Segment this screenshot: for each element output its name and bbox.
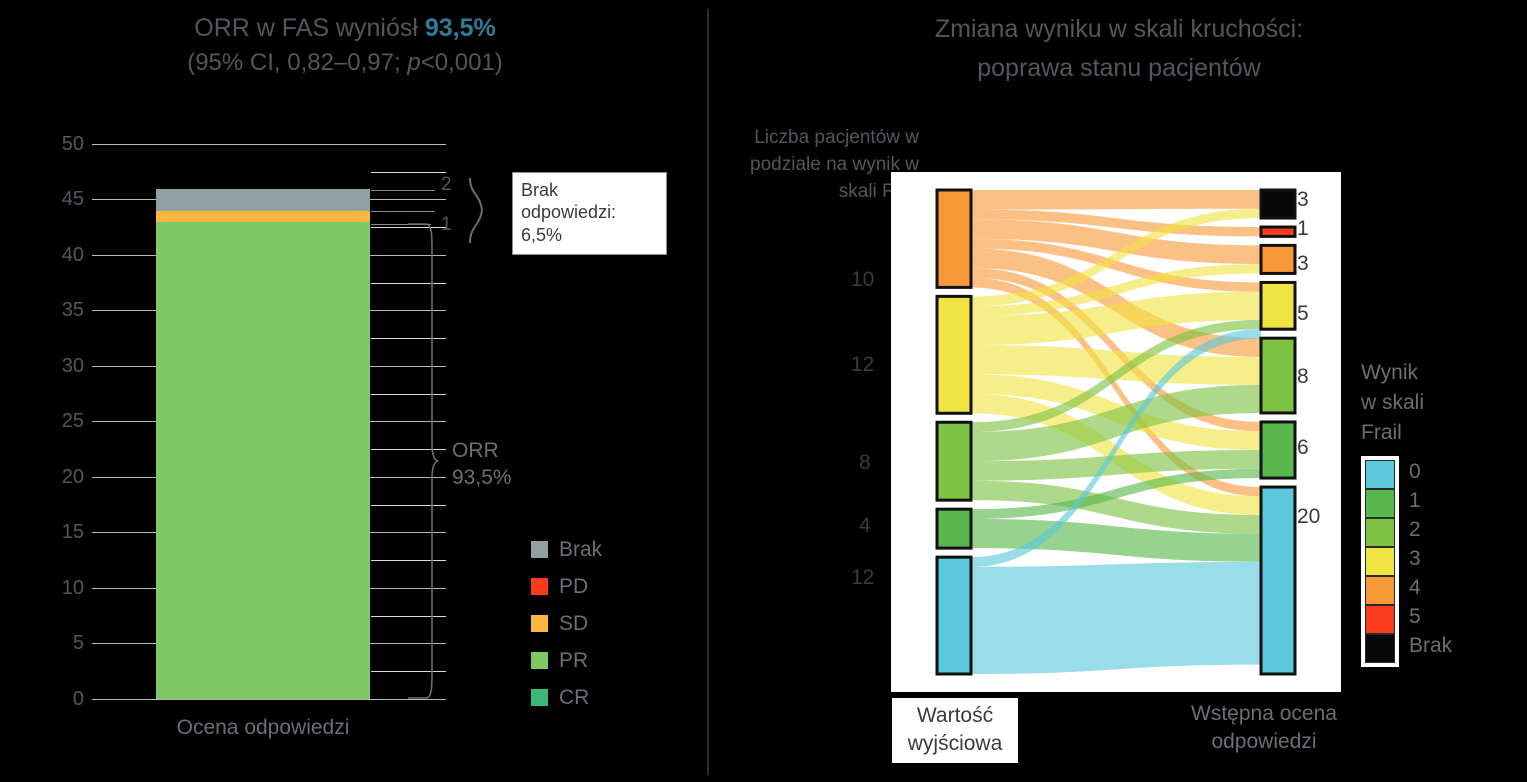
- sankey-node-baseline-3[interactable]: [937, 296, 971, 413]
- sankey-legend-label-3: 3: [1409, 543, 1452, 572]
- sankey-title-line1: Zmiana wyniku w skali kruchości:: [769, 10, 1469, 49]
- bar-chart-plot: 50 45 40 35 30 25 20 15 10 5 0 Ocena odp…: [0, 0, 707, 782]
- ytick-label: 20: [36, 466, 84, 489]
- sankey-node-baseline-1[interactable]: [937, 509, 971, 548]
- legend-item-pr[interactable]: PR: [531, 642, 602, 679]
- sankey-left-node-label-2: 8: [859, 451, 871, 475]
- legend-label-pr: PR: [559, 649, 588, 673]
- sankey-legend-keys: 0 1 2 3 4 5 Brak: [1409, 456, 1452, 659]
- sankey-right-node-label-4: 3: [1297, 252, 1309, 276]
- legend-swatch-pr: [531, 652, 548, 669]
- x-axis-label: Ocena odpowiedzi: [156, 716, 370, 740]
- sankey-node-response-4[interactable]: [1261, 245, 1295, 273]
- ytick-label: 25: [36, 410, 84, 433]
- ytick-label: 10: [36, 577, 84, 600]
- sankey-node-baseline-0[interactable]: [937, 557, 971, 674]
- annotation-box-text: Brak odpowiedzi: 6,5%: [521, 180, 616, 245]
- sankey-right-node-label-5: 1: [1297, 217, 1309, 241]
- sankey-left-node-label-3: 12: [851, 353, 874, 377]
- sankey-legend-label-0: 0: [1409, 456, 1452, 485]
- ytick-label: 15: [36, 521, 84, 544]
- legend-item-brak[interactable]: Brak: [531, 531, 602, 568]
- ytick-label: 30: [36, 355, 84, 378]
- sankey-legend-title-line3: Frail: [1361, 418, 1424, 448]
- sankey-legend-swatch-0[interactable]: [1365, 460, 1395, 489]
- annotation-orr-line1: ORR: [452, 437, 512, 464]
- bar-segment-brak[interactable]: [156, 189, 370, 211]
- ytick-label: 45: [36, 188, 84, 211]
- ytick-label: 35: [36, 299, 84, 322]
- annotation-orr-line2: 93,5%: [452, 464, 512, 491]
- sankey-legend: Wynik w skali Frail 0 1 2 3 4 5 Brak: [1361, 358, 1424, 451]
- brace-icon-top: [466, 176, 500, 246]
- sankey-node-response-Brak[interactable]: [1261, 190, 1295, 218]
- sankey-legend-swatch-5[interactable]: [1365, 605, 1395, 634]
- annotation-count-sd: 1: [441, 214, 452, 236]
- annotation-orr: ORR 93,5%: [452, 437, 512, 492]
- sankey-node-response-1[interactable]: [1261, 422, 1295, 478]
- left-panel: ORR w FAS wyniósł 93,5% (95% CI, 0,82–0,…: [0, 0, 707, 782]
- bar-segment-sd[interactable]: [156, 211, 370, 222]
- sankey-legend-label-1: 1: [1409, 485, 1452, 514]
- sankey-node-response-5[interactable]: [1261, 227, 1295, 236]
- sankey-legend-swatch-3[interactable]: [1365, 547, 1395, 576]
- gridline-0: [92, 699, 446, 700]
- legend-item-pd[interactable]: PD: [531, 568, 602, 605]
- sankey-legend-label-brak: Brak: [1409, 630, 1452, 659]
- sankey-link-4-to-Brak[interactable]: [971, 190, 1261, 209]
- sankey-node-response-2[interactable]: [1261, 338, 1295, 413]
- legend-label-pd: PD: [559, 575, 588, 599]
- legend-label-sd: SD: [559, 612, 588, 636]
- ytick-label: 50: [36, 133, 84, 156]
- sankey-right-node-label-3: 5: [1297, 302, 1309, 326]
- sankey-axis-label-baseline: Wartość wyjściowa: [892, 698, 1018, 763]
- sankey-title: Zmiana wyniku w skali kruchości: poprawa…: [769, 10, 1469, 88]
- ytick-label: 0: [36, 688, 84, 711]
- bar-segment-pr[interactable]: [156, 222, 370, 699]
- right-panel: Zmiana wyniku w skali kruchości: poprawa…: [709, 0, 1527, 782]
- sankey-right-node-label-2: 8: [1297, 365, 1309, 389]
- legend-label-brak: Brak: [559, 538, 602, 562]
- sankey-node-response-0[interactable]: [1261, 487, 1295, 674]
- leader-line: [371, 190, 435, 191]
- legend-item-sd[interactable]: SD: [531, 605, 602, 642]
- sankey-right-node-label-1: 6: [1297, 436, 1309, 460]
- sankey-legend-label-4: 4: [1409, 572, 1452, 601]
- sankey-diagram: [891, 172, 1341, 692]
- sankey-axis-label-response-line1: Wstępna ocena: [1169, 700, 1359, 728]
- annotation-box-no-response: Brak odpowiedzi: 6,5%: [512, 172, 667, 255]
- sankey-node-baseline-2[interactable]: [937, 422, 971, 500]
- legend-swatch-sd: [531, 615, 548, 632]
- sankey-right-node-label-0: 20: [1297, 505, 1320, 529]
- sankey-node-response-3[interactable]: [1261, 282, 1295, 329]
- legend-swatch-cr: [531, 689, 548, 706]
- sankey-legend-title: Wynik w skali Frail: [1361, 358, 1424, 447]
- sankey-legend-title-line2: w skali: [1361, 388, 1424, 418]
- sankey-axis-label-baseline-line1: Wartość: [902, 702, 1008, 730]
- sankey-legend-swatch-4[interactable]: [1365, 576, 1395, 605]
- sankey-legend-colorstrip: [1361, 456, 1399, 667]
- sankey-right-node-label-brak: 3: [1297, 188, 1309, 212]
- legend-label-cr: CR: [559, 686, 589, 710]
- sankey-legend-label-2: 2: [1409, 514, 1452, 543]
- legend-item-cr[interactable]: CR: [531, 679, 602, 716]
- minor-tick: [371, 172, 446, 173]
- sankey-legend-swatch-2[interactable]: [1365, 518, 1395, 547]
- sankey-axis-label-baseline-line2: wyjściowa: [902, 730, 1008, 758]
- annotation-count-brak: 2: [441, 174, 452, 196]
- sankey-legend-label-5: 5: [1409, 601, 1452, 630]
- sankey-axis-label-response-line2: odpowiedzi: [1169, 728, 1359, 756]
- sankey-svg: [891, 172, 1341, 692]
- leader-line: [371, 211, 435, 212]
- sankey-left-node-label-4: 10: [851, 268, 874, 292]
- legend-swatch-pd: [531, 578, 548, 595]
- sankey-legend-title-line1: Wynik: [1361, 358, 1424, 388]
- sankey-link-0-to-0[interactable]: [971, 562, 1261, 674]
- brace-icon-orr: [404, 222, 440, 700]
- sankey-legend-swatch-brak[interactable]: [1365, 634, 1395, 663]
- sankey-legend-swatch-1[interactable]: [1365, 489, 1395, 518]
- sankey-title-line2: poprawa stanu pacjentów: [769, 49, 1469, 88]
- sankey-axis-label-response: Wstępna ocena odpowiedzi: [1169, 700, 1359, 757]
- ytick-label: 5: [36, 632, 84, 655]
- sankey-node-baseline-4[interactable]: [937, 190, 971, 287]
- gridline-50: [92, 144, 446, 145]
- bar-chart-legend: Brak PD SD PR CR: [531, 531, 602, 716]
- sankey-left-node-label-1: 4: [859, 514, 871, 538]
- legend-swatch-brak: [531, 541, 548, 558]
- sankey-left-node-label-0: 12: [851, 566, 874, 590]
- ytick-label: 40: [36, 244, 84, 267]
